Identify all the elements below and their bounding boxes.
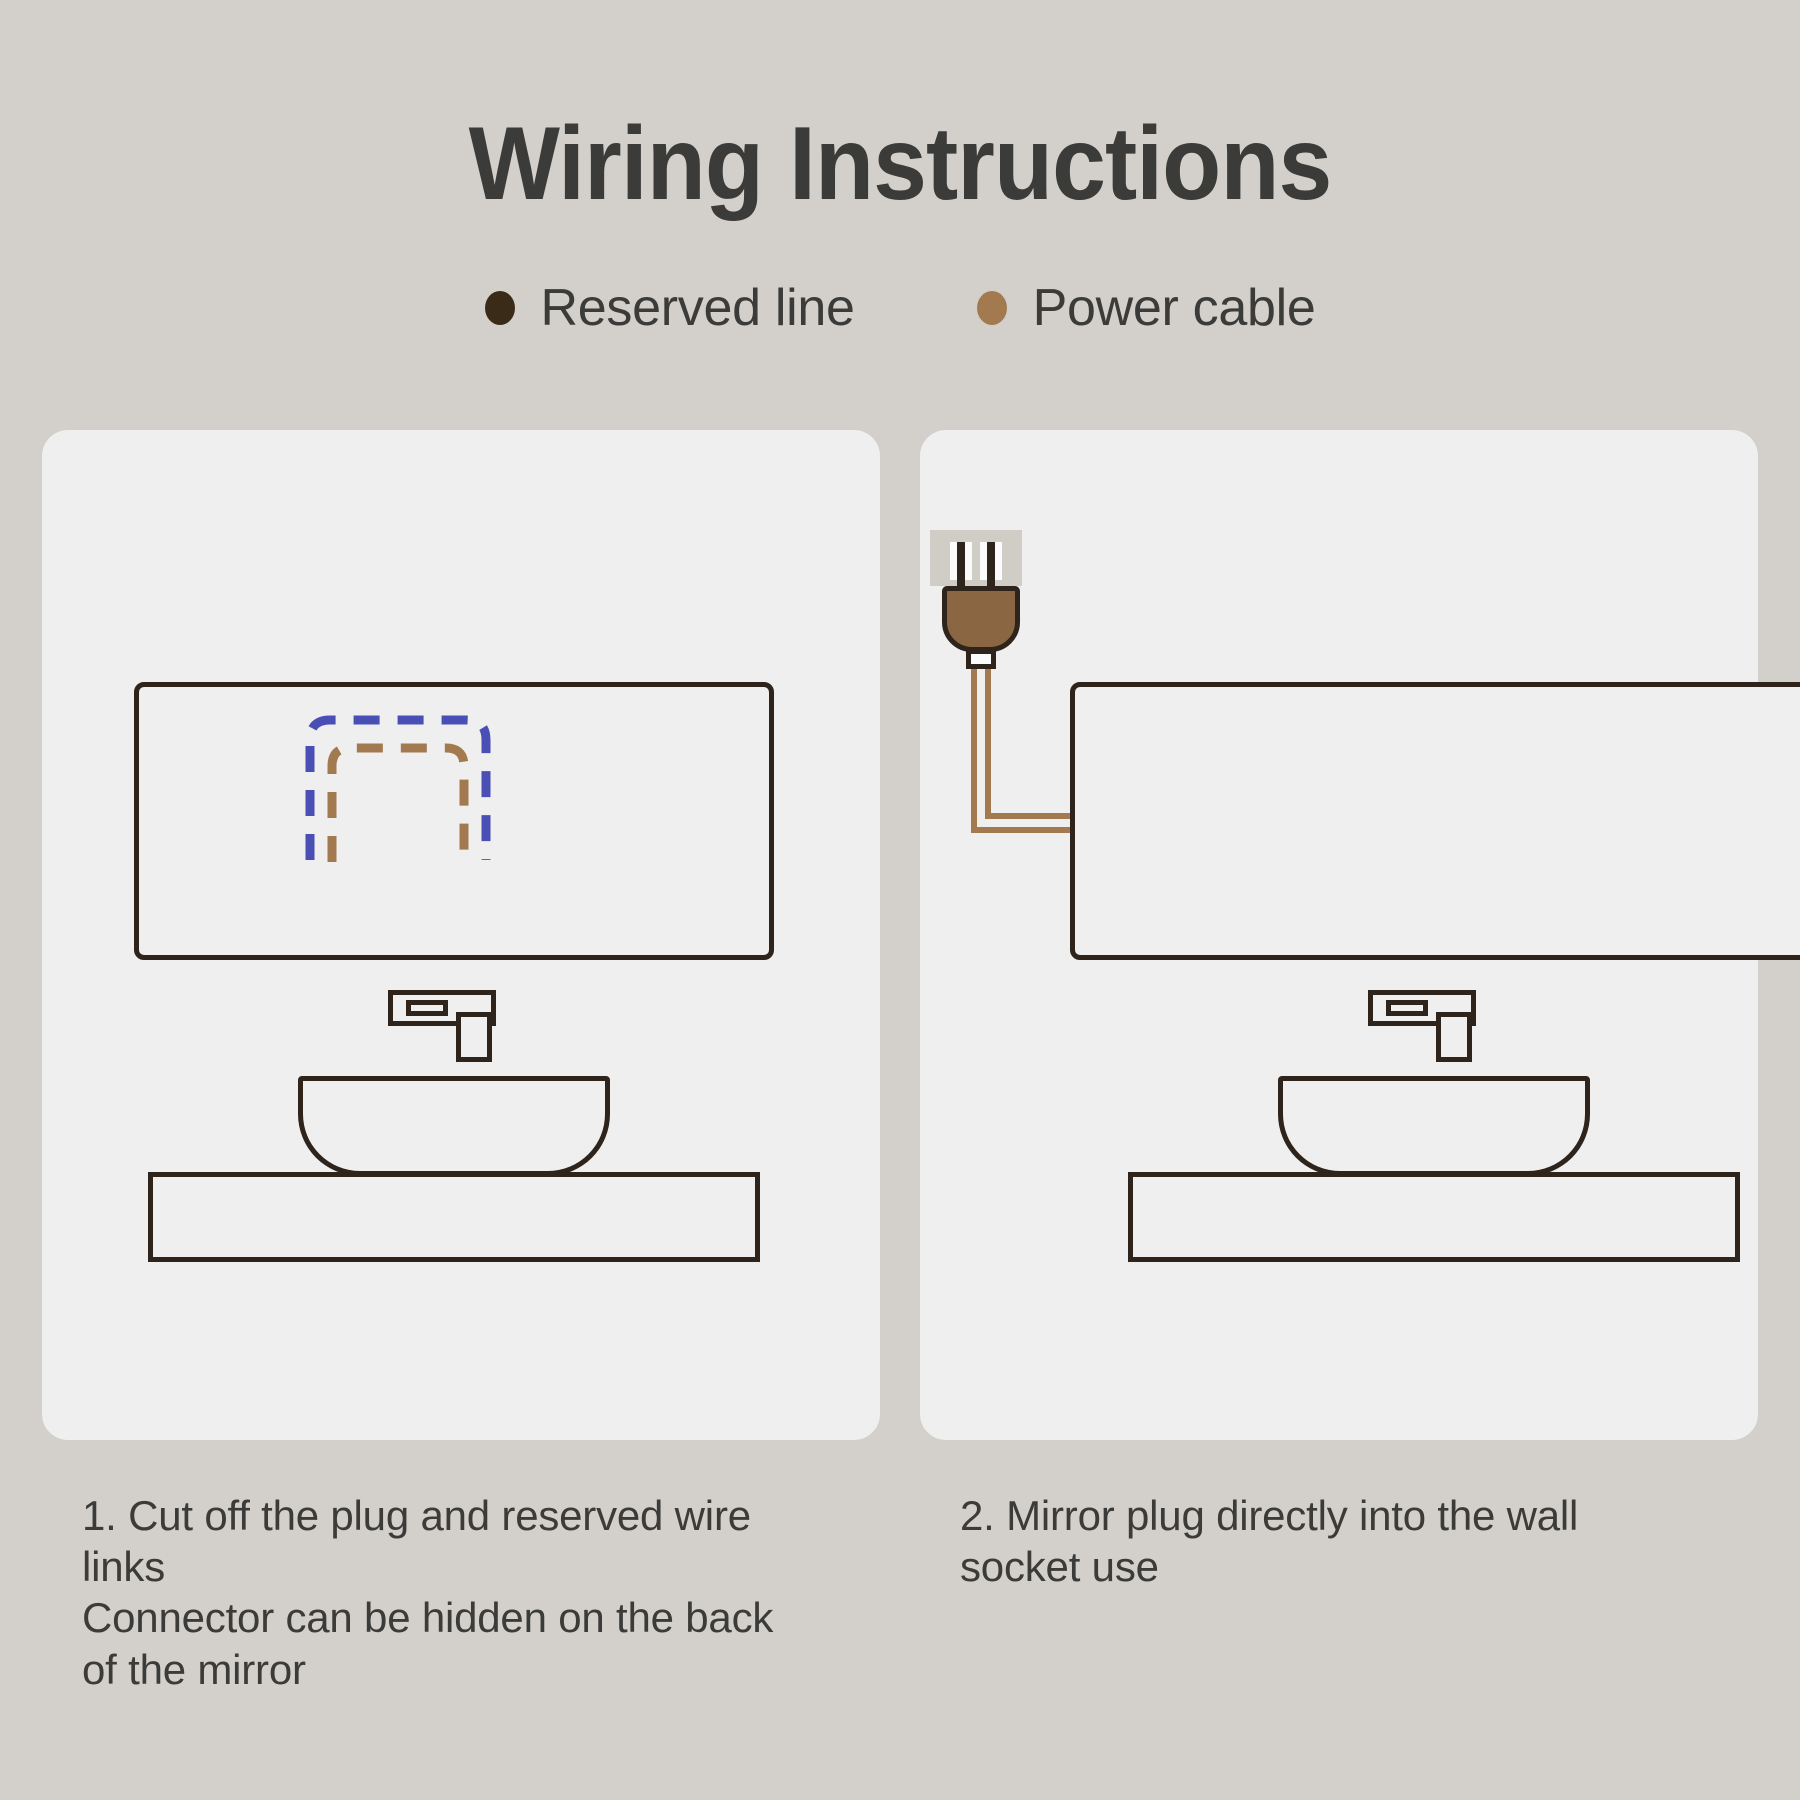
legend: Reserved line Power cable [0,278,1800,338]
faucet-spout [1436,1012,1472,1062]
caption-line-1: 2. Mirror plug directly into the wall so… [960,1490,1660,1592]
panel-step-1 [42,430,880,1440]
legend-dot-icon [977,291,1007,325]
diagram-panels [0,430,1800,1440]
power-cable-strand-inner [974,669,1080,830]
plug-prong-icon [987,542,995,590]
mirror-outline [1070,682,1800,960]
faucet-handle [406,1000,448,1016]
wall-socket-plate-icon [930,530,1022,586]
legend-label: Power cable [1033,278,1316,338]
mirror-outline [134,682,774,960]
scene-step-2 [920,430,1758,1440]
plug-prong-icon [957,542,965,590]
faucet-spout [456,1012,492,1062]
power-cable-strand-outer [988,669,1080,816]
legend-item-reserved-line: Reserved line [485,278,855,338]
captions: 1. Cut off the plug and reserved wire li… [0,1490,1800,1750]
faucet-handle [1386,1000,1428,1016]
sink-basin [298,1076,610,1176]
page-title: Wiring Instructions [63,110,1737,219]
caption-step-2: 2. Mirror plug directly into the wall so… [960,1490,1660,1592]
panel-step-2 [920,430,1758,1440]
caption-step-1: 1. Cut off the plug and reserved wire li… [82,1490,782,1695]
vanity-counter [148,1172,760,1262]
plug-body-icon [942,586,1020,652]
scene-step-1 [42,430,880,1440]
caption-line-2: Connector can be hidden on the back of t… [82,1592,782,1694]
sink-basin [1278,1076,1590,1176]
vanity-counter [1128,1172,1740,1262]
plug-strain-relief-icon [966,649,996,669]
legend-label: Reserved line [541,278,855,338]
legend-item-power-cable: Power cable [977,278,1316,338]
caption-line-1: 1. Cut off the plug and reserved wire li… [82,1490,782,1592]
legend-dot-icon [485,291,515,325]
